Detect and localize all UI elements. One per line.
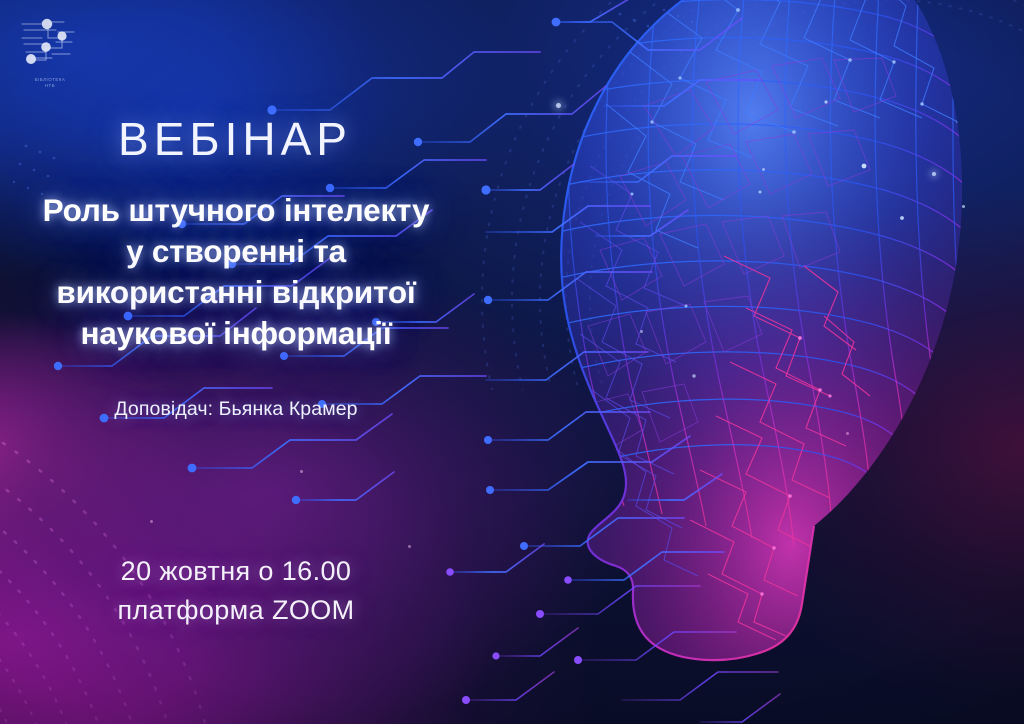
poster-content: ВЕБІНАР Роль штучного інтелекту у створе… bbox=[0, 0, 470, 724]
webinar-poster: БІБЛІОТЕКА НТБ ВЕБІНАР Роль штучного інт… bbox=[0, 0, 1024, 724]
sparkle-particle bbox=[846, 432, 849, 435]
title-line-4: наукової інформації bbox=[8, 313, 464, 354]
kicker-webinar: ВЕБІНАР bbox=[0, 112, 470, 166]
speaker-label: Доповідач: Бьянка Крамер bbox=[8, 398, 464, 421]
page-title: Роль штучного інтелекту у створенні та в… bbox=[8, 190, 464, 354]
schedule-platform: платформа ZOOM bbox=[8, 591, 464, 630]
schedule-date-time: 20 жовтня о 16.00 bbox=[8, 552, 464, 591]
title-line-1: Роль штучного інтелекту bbox=[8, 190, 464, 231]
schedule-block: 20 жовтня о 16.00 платформа ZOOM bbox=[8, 552, 464, 631]
title-line-3: використанні відкритої bbox=[8, 272, 464, 313]
title-line-2: у створенні та bbox=[8, 231, 464, 272]
